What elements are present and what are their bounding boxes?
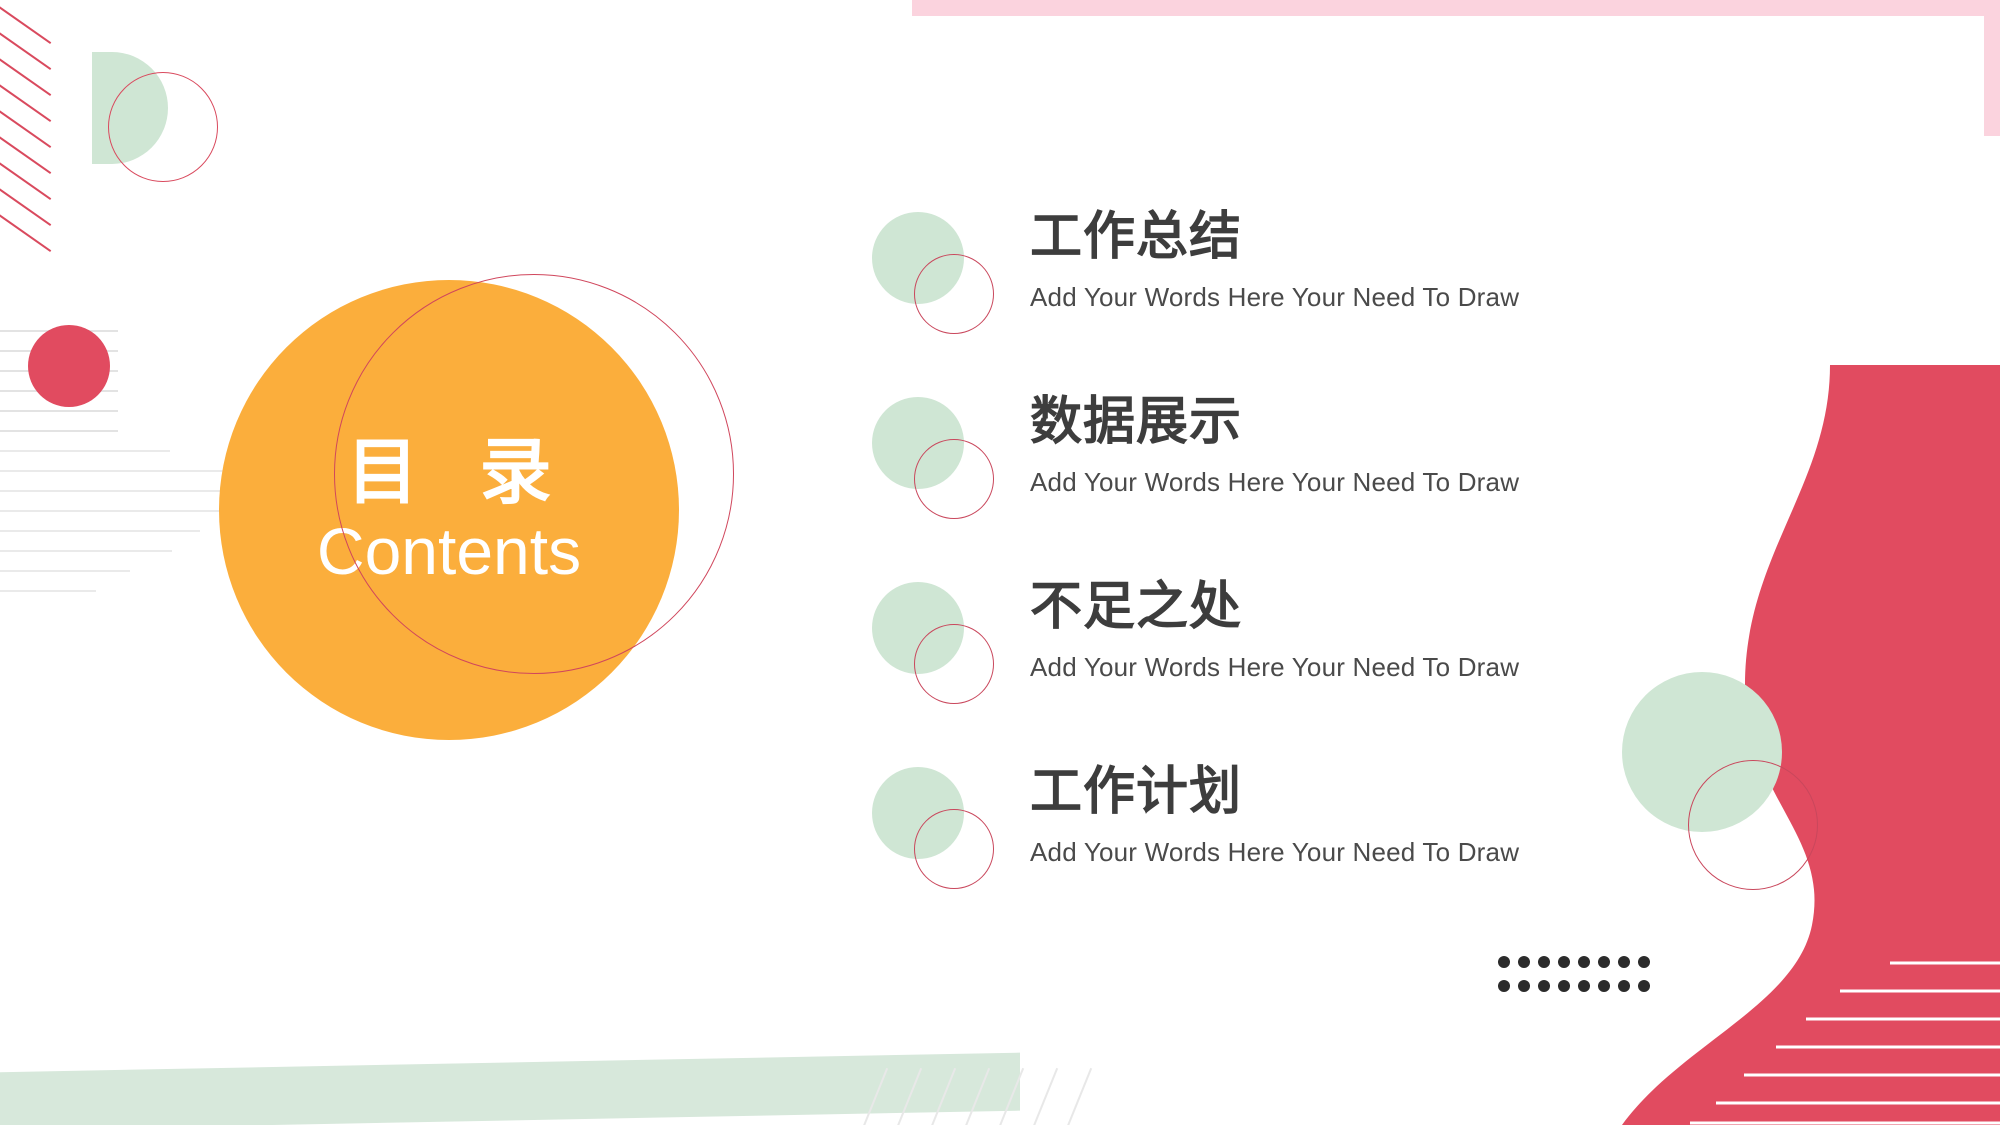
agenda-title: 不足之处	[1030, 578, 1519, 638]
agenda-bullet-4	[872, 767, 990, 897]
agenda-bullet-2	[872, 397, 990, 527]
agenda-title: 工作计划	[1030, 763, 1519, 823]
green-band-decoration	[0, 1053, 1020, 1125]
agenda-subtitle: Add Your Words Here Your Need To Draw	[1030, 467, 1519, 498]
agenda-text-3: 不足之处 Add Your Words Here Your Need To Dr…	[1030, 578, 1519, 683]
red-ring-decoration-top-left	[108, 72, 218, 182]
red-ring-icon	[914, 809, 994, 889]
agenda-list: 工作总结 Add Your Words Here Your Need To Dr…	[872, 212, 1772, 952]
pink-corner-frame	[912, 0, 2000, 136]
red-ring-decoration-contents	[334, 274, 734, 674]
red-dot-decoration	[28, 325, 110, 407]
agenda-text-1: 工作总结 Add Your Words Here Your Need To Dr…	[1030, 208, 1519, 313]
agenda-item-4[interactable]: 工作计划 Add Your Words Here Your Need To Dr…	[872, 767, 1772, 952]
agenda-item-2[interactable]: 数据展示 Add Your Words Here Your Need To Dr…	[872, 397, 1772, 582]
agenda-item-1[interactable]: 工作总结 Add Your Words Here Your Need To Dr…	[872, 212, 1772, 397]
agenda-item-3[interactable]: 不足之处 Add Your Words Here Your Need To Dr…	[872, 582, 1772, 767]
agenda-text-2: 数据展示 Add Your Words Here Your Need To Dr…	[1030, 393, 1519, 498]
agenda-subtitle: Add Your Words Here Your Need To Draw	[1030, 652, 1519, 683]
agenda-subtitle: Add Your Words Here Your Need To Draw	[1030, 282, 1519, 313]
agenda-title: 数据展示	[1030, 393, 1519, 453]
red-ring-icon	[914, 439, 994, 519]
agenda-text-4: 工作计划 Add Your Words Here Your Need To Dr…	[1030, 763, 1519, 868]
diagonal-hatch-decoration	[0, 0, 146, 250]
agenda-subtitle: Add Your Words Here Your Need To Draw	[1030, 837, 1519, 868]
green-half-circle-decoration	[92, 52, 168, 164]
red-ring-icon	[914, 254, 994, 334]
agenda-bullet-1	[872, 212, 990, 342]
red-ring-icon	[914, 624, 994, 704]
dot-grid-decoration	[1498, 956, 1658, 1004]
agenda-bullet-3	[872, 582, 990, 712]
agenda-title: 工作总结	[1030, 208, 1519, 268]
slide-canvas: 目 录 Contents 工作总结 Add Your Words Here Yo…	[0, 0, 2000, 1125]
green-band-stripes-decoration	[860, 1065, 1120, 1125]
